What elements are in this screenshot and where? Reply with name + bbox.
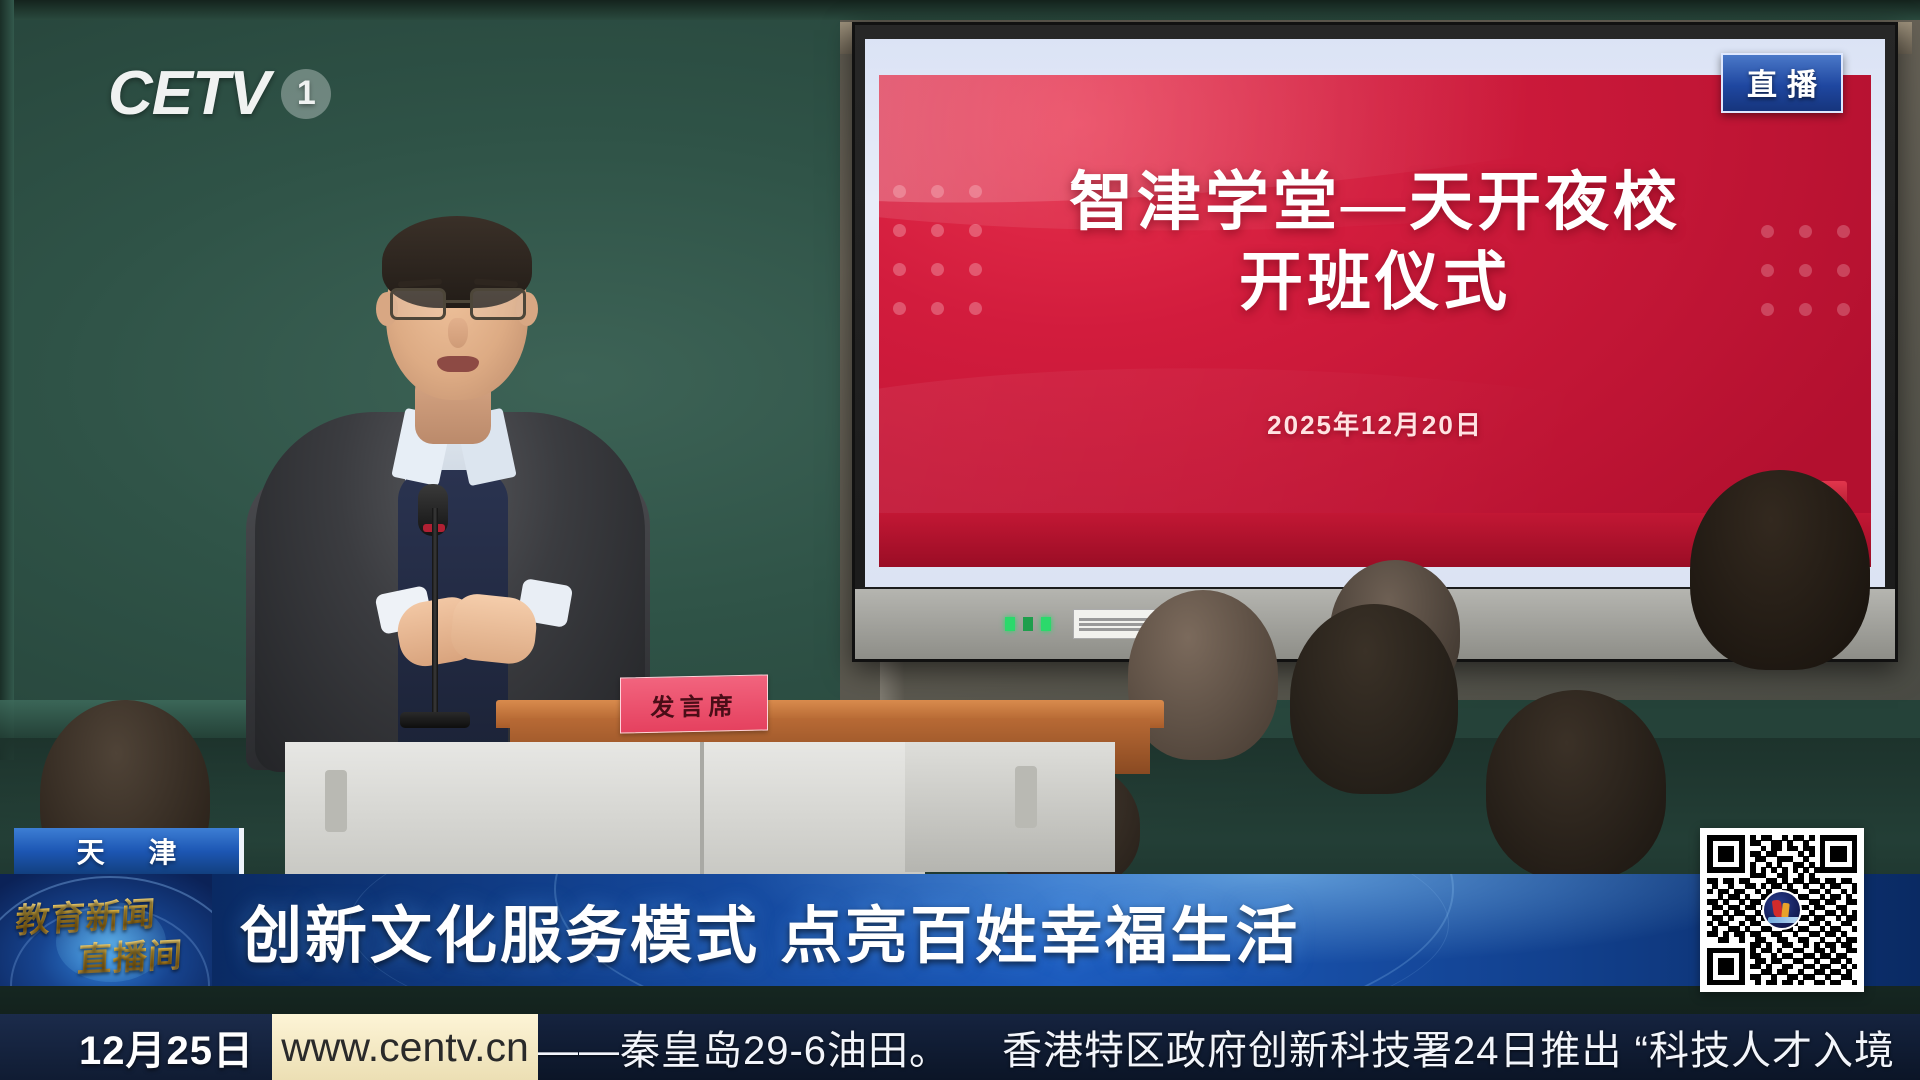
qr-code-center-logo [1762, 890, 1802, 930]
location-tag-label: 天 津 [59, 831, 195, 871]
qr-code[interactable] [1700, 828, 1864, 992]
ticker-website-url[interactable]: www.centv.cn [272, 1014, 538, 1080]
ticker-date: 12月25日 [0, 1014, 272, 1080]
headline-text: 创新文化服务模式 点亮百姓幸福生活 [240, 885, 1300, 975]
program-logo-line2: 直播间 [76, 927, 184, 981]
ticker-scrolling-text: ——秦皇岛29-6油田。香港特区政府创新科技署24日推出 “科技人才入境 [538, 1014, 1920, 1080]
ticker-segment: 香港特区政府创新科技署24日推出 “科技人才入境 [1002, 1018, 1920, 1076]
news-ticker: 12月25日 www.centv.cn ——秦皇岛29-6油田。香港特区政府创新… [0, 1014, 1920, 1080]
cetv-wordmark: CETV [108, 58, 269, 129]
program-logo: 教育新闻 直播间 [0, 874, 212, 986]
headline-banner: 创新文化服务模式 点亮百姓幸福生活 [212, 874, 1920, 986]
qr-code-matrix [1707, 835, 1857, 985]
location-tag: 天 津 [14, 828, 244, 874]
cetv-channel-number: 1 [281, 69, 331, 119]
ticker-segment: ——秦皇岛29-6油田。 [538, 1018, 1002, 1076]
broadcast-overlay: CETV 1 天 津 教育新闻 直播间 创新文化服务模式 点亮百姓幸福生活 [0, 0, 1920, 1080]
cetv-channel-logo: CETV 1 [108, 58, 331, 129]
broadcast-screenshot: 智津学堂—天开夜校 开班仪式 2025年12月20日 直播 [0, 0, 1920, 1080]
